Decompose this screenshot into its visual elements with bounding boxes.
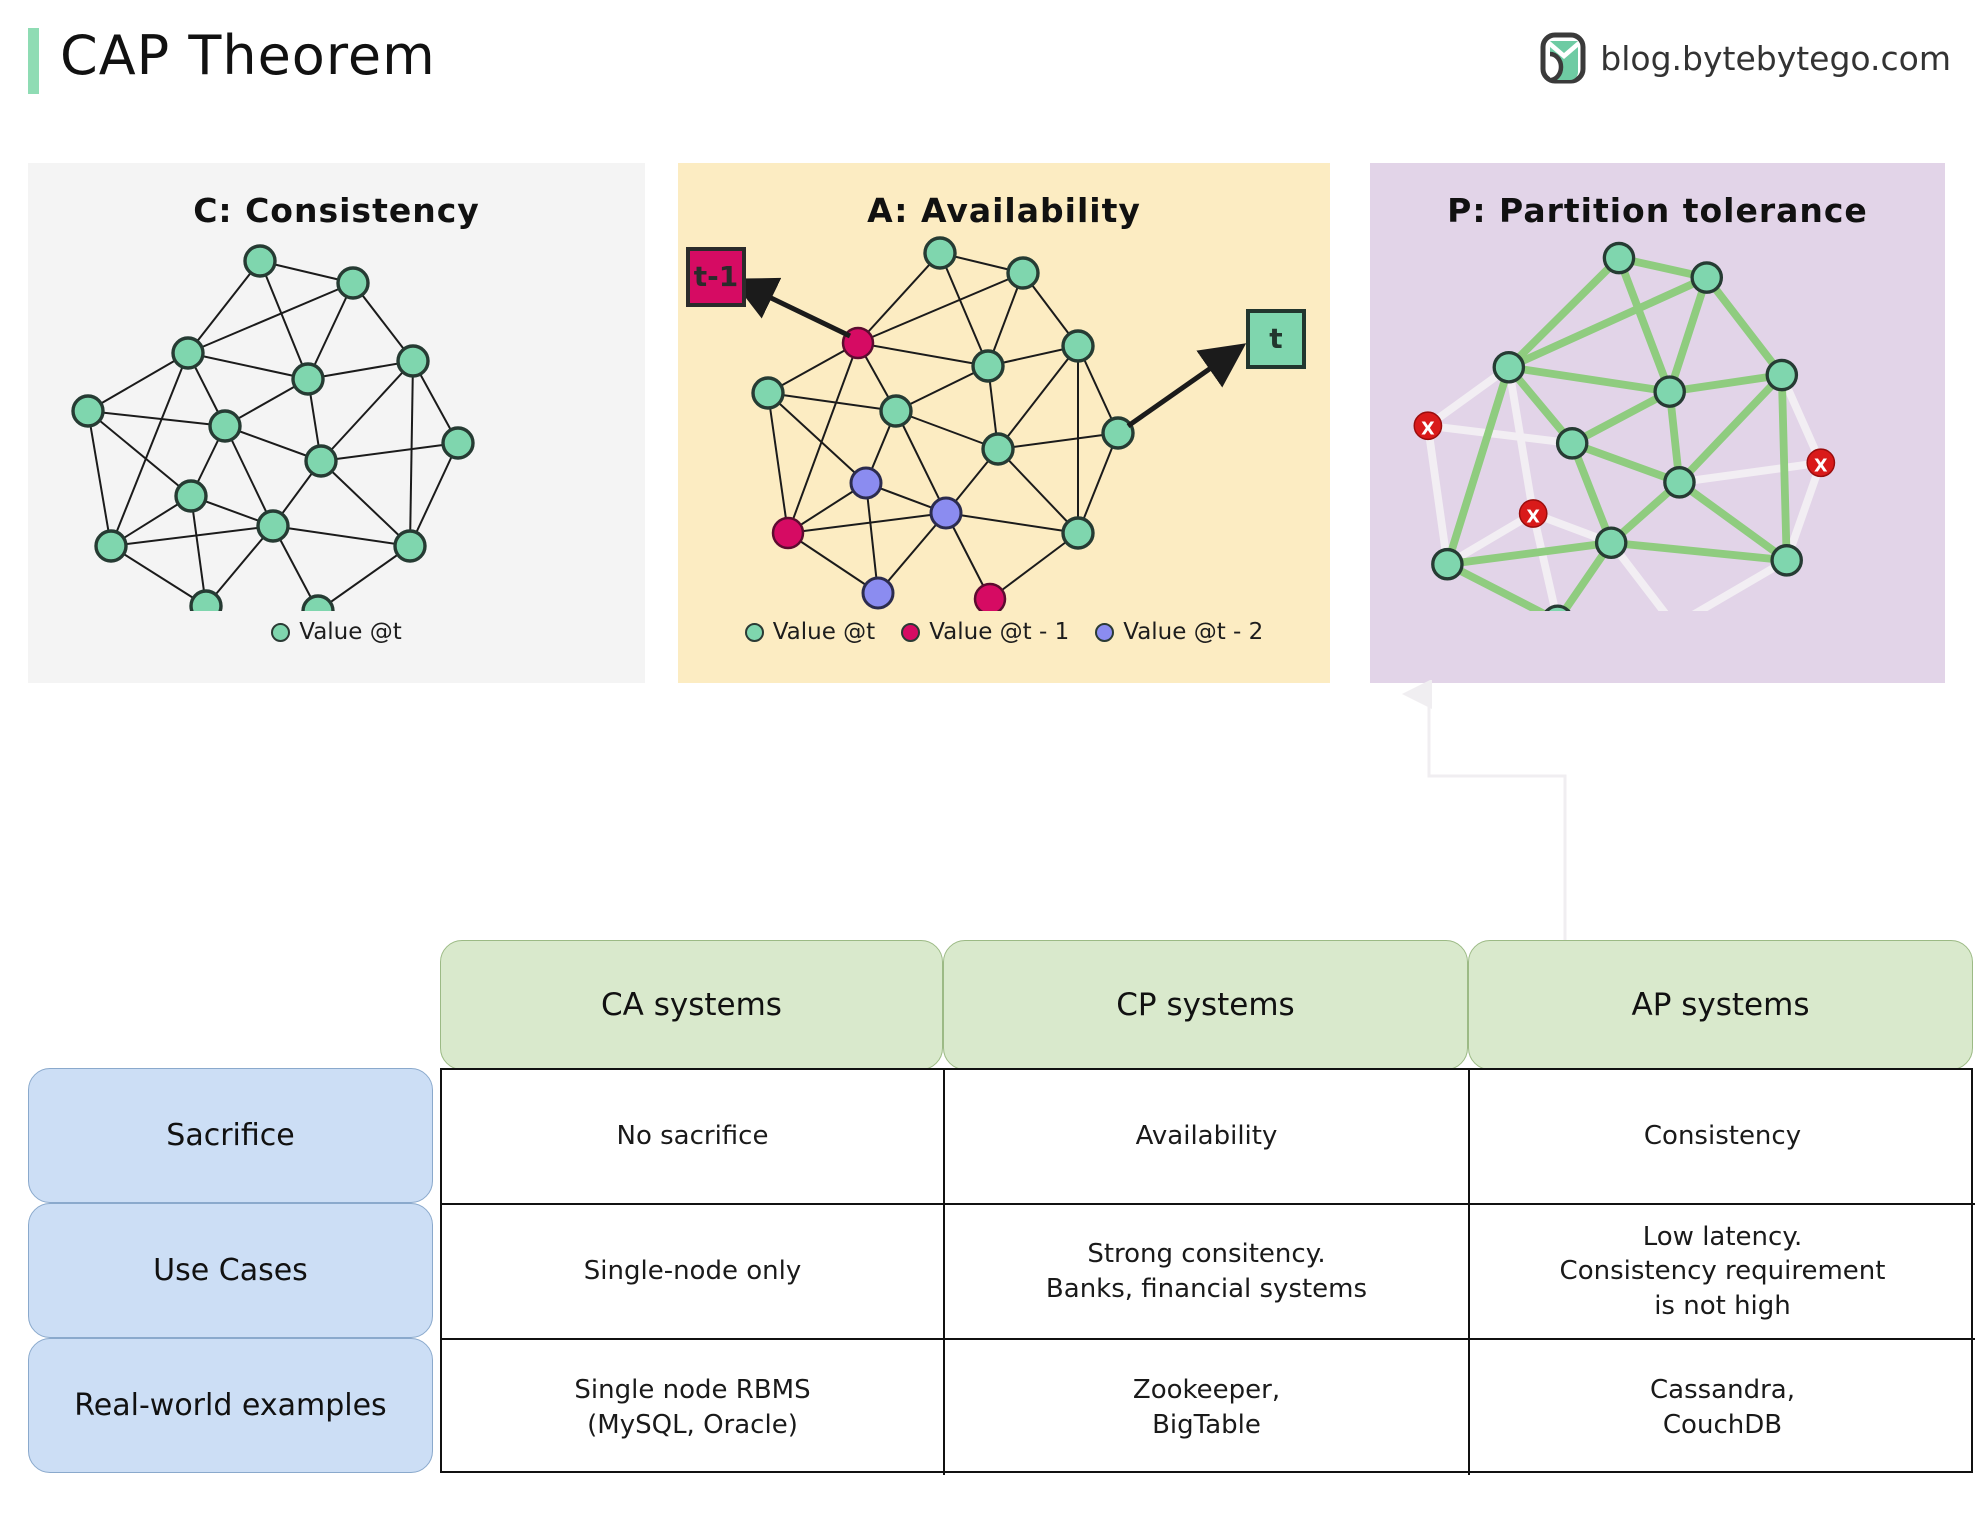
broken-edges — [1428, 367, 1821, 611]
availability-graph: t-1 t — [678, 221, 1330, 611]
badge-t-minus-1-label: t-1 — [694, 260, 739, 293]
table-cell: Availability — [945, 1070, 1470, 1205]
availability-legend: Value @t Value @t - 1 Value @t - 2 — [678, 619, 1330, 645]
legend-dot-value-at-t — [271, 623, 290, 642]
legend-dot-value-at-t-minus-1 — [901, 623, 920, 642]
page-header: CAP Theorem blog.bytebytego.com — [0, 0, 1975, 120]
table-cell: Single node RBMS (MySQL, Oracle) — [442, 1340, 945, 1475]
column-header-cp-systems: CP systems — [943, 940, 1468, 1070]
brand-url-text: blog.bytebytego.com — [1600, 39, 1951, 78]
table-cell: Zookeeper, BigTable — [945, 1340, 1470, 1475]
row-label-real-world-examples: Real-world examples — [28, 1338, 433, 1473]
svg-text:X: X — [1814, 457, 1828, 477]
table-cell: No sacrifice — [442, 1070, 945, 1205]
cell-text: Zookeeper, BigTable — [1133, 1373, 1280, 1442]
consistency-legend: Value @t — [28, 619, 645, 645]
row-label-text: Use Cases — [153, 1253, 308, 1288]
legend-item: Value @t — [271, 619, 402, 645]
legend-dot-value-at-t-minus-2 — [1095, 623, 1114, 642]
cell-text: Single node RBMS (MySQL, Oracle) — [574, 1373, 810, 1442]
cell-text: Single-node only — [584, 1254, 801, 1288]
svg-text:X: X — [1421, 420, 1435, 440]
brand[interactable]: blog.bytebytego.com — [1540, 32, 1951, 84]
panel-availability: A: Availability — [678, 163, 1330, 683]
failure-marker: X — [1807, 449, 1834, 476]
badge-t: t — [1248, 311, 1304, 367]
table-cell: Single-node only — [442, 1205, 945, 1340]
title-accent-bar — [28, 28, 39, 94]
row-label-text: Real-world examples — [74, 1388, 386, 1423]
partition-graph: X X X X — [1370, 221, 1945, 611]
arrow-to-t — [1128, 349, 1238, 426]
comparison-table: CA systems CP systems AP systems Sacrifi… — [0, 940, 1975, 1500]
legend-item: Value @t - 2 — [1095, 619, 1263, 645]
table-cell: Strong consitency. Banks, financial syst… — [945, 1205, 1470, 1340]
column-header-ap-systems: AP systems — [1468, 940, 1973, 1070]
ap-to-partition-connector — [1280, 680, 1780, 960]
page-title: CAP Theorem — [60, 24, 436, 87]
cell-text: Low latency. Consistency requirement is … — [1560, 1220, 1886, 1323]
panel-partition-tolerance: P: Partition tolerance — [1370, 163, 1945, 683]
legend-item: Value @t - 1 — [901, 619, 1069, 645]
column-header-label: AP systems — [1632, 987, 1810, 1023]
badge-t-minus-1: t-1 — [688, 249, 744, 305]
legend-dot-value-at-t — [745, 623, 764, 642]
table-cell: Low latency. Consistency requirement is … — [1470, 1205, 1975, 1340]
legend-label: Value @t — [773, 619, 876, 645]
failure-marker: X — [1520, 500, 1547, 527]
table-cell: Consistency — [1470, 1070, 1975, 1205]
cell-text: Availability — [1136, 1119, 1278, 1153]
column-header-ca-systems: CA systems — [440, 940, 943, 1070]
legend-label: Value @t - 1 — [929, 619, 1069, 645]
bytebytego-logo-icon — [1540, 32, 1586, 84]
legend-label: Value @t — [299, 619, 402, 645]
legend-item: Value @t — [745, 619, 876, 645]
badge-t-label: t — [1269, 322, 1282, 355]
table-grid: No sacrifice Availability Consistency Si… — [440, 1068, 1973, 1473]
column-header-label: CP systems — [1116, 987, 1294, 1023]
panel-consistency: C: Consistency — [28, 163, 645, 683]
row-label-sacrifice: Sacrifice — [28, 1068, 433, 1203]
failure-marker: X — [1414, 412, 1441, 439]
row-label-text: Sacrifice — [166, 1118, 294, 1153]
row-label-use-cases: Use Cases — [28, 1203, 433, 1338]
cell-text: Cassandra, CouchDB — [1650, 1373, 1795, 1442]
column-header-label: CA systems — [601, 987, 782, 1023]
cell-text: Strong consitency. Banks, financial syst… — [1046, 1237, 1367, 1306]
cell-text: Consistency — [1644, 1119, 1801, 1153]
svg-text:X: X — [1526, 507, 1540, 527]
legend-label: Value @t - 2 — [1123, 619, 1263, 645]
arrow-to-t-minus-1 — [740, 283, 850, 336]
consistency-graph — [28, 221, 645, 611]
table-cell: Cassandra, CouchDB — [1470, 1340, 1975, 1475]
cell-text: No sacrifice — [617, 1119, 769, 1153]
